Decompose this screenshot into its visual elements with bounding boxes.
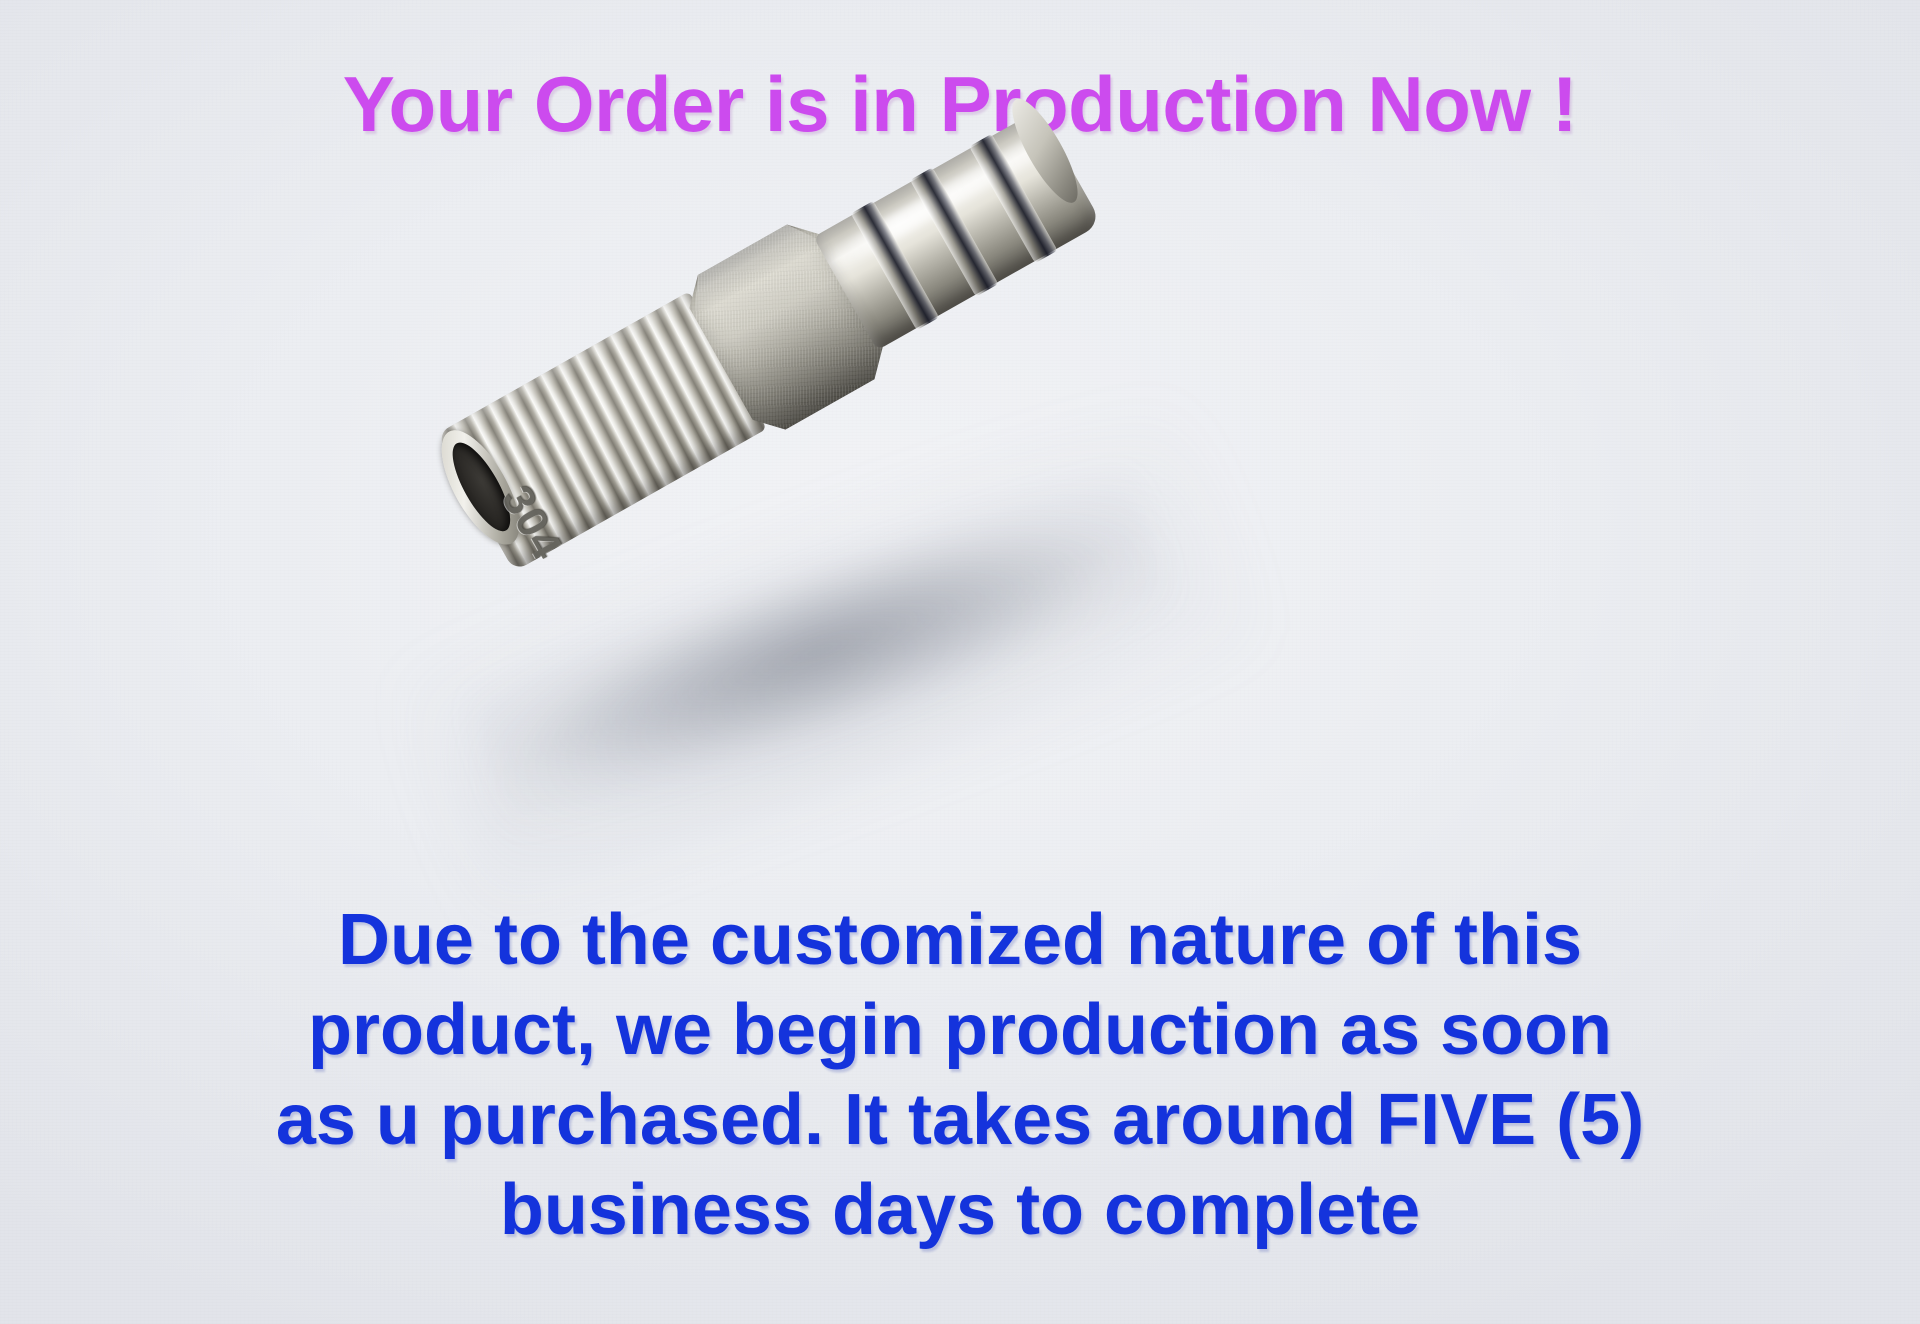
notice-line-3: as u purchased. It takes around FIVE (5) xyxy=(0,1075,1920,1165)
notice-line-2: product, we begin production as soon xyxy=(0,985,1920,1075)
product-photo: 304 xyxy=(300,230,1400,850)
notice-line-4: business days to complete xyxy=(0,1165,1920,1255)
production-notice-text: Due to the customized nature of this pro… xyxy=(0,895,1920,1255)
notice-line-1: Due to the customized nature of this xyxy=(0,895,1920,985)
promo-banner: Your Order is in Production Now ! 304 xyxy=(0,0,1920,1324)
